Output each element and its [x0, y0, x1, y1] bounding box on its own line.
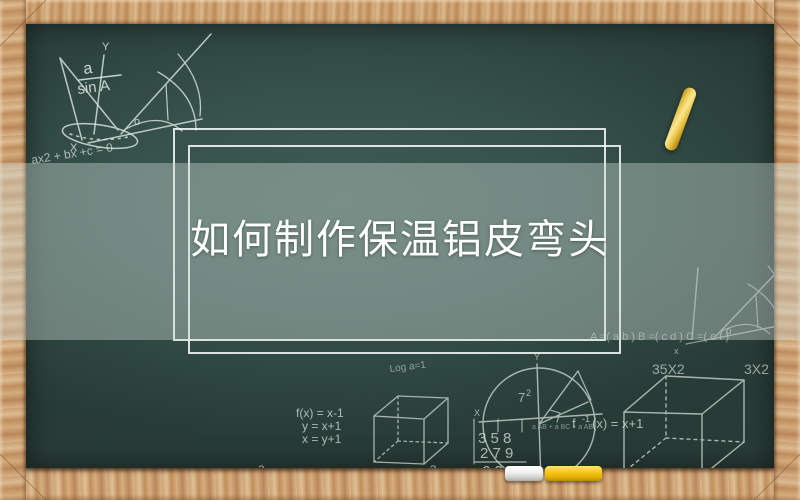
long-division: 3 5 8 2 7 9 6 3 7: [474, 419, 526, 468]
angle-construction-left: [88, 34, 211, 143]
cube-drawing-right: [624, 376, 744, 468]
inverse-superscript: -1: [582, 414, 590, 424]
gold-chalk-icon: [663, 86, 698, 152]
function-fx: f(x) = x-1: [296, 406, 344, 420]
svg-text:2 7 9: 2 7 9: [480, 445, 513, 462]
seven-exponent: 2: [526, 388, 531, 398]
function-y: y = x+1: [302, 419, 342, 433]
quadratic-equation: ax2 + bx +c = 0: [30, 140, 114, 167]
a-sin-a-2-numerator: a: [430, 461, 437, 468]
axis-label-x-bottom: X: [474, 408, 480, 418]
log-expression: Log a=1: [389, 360, 427, 375]
svg-text:3 5 8: 3 5 8: [478, 430, 511, 447]
cone-fraction-numerator: a: [82, 60, 93, 78]
inverse-function-rest: (x) = x+1: [592, 416, 643, 431]
alog-bc: a log (bc): [445, 466, 487, 468]
small-sum-equation: a AB + a BC + a AB: [532, 424, 593, 431]
inverse-function: f: [572, 416, 576, 431]
axis-label-y-topleft: Y: [102, 41, 110, 53]
axis-label-x-right: x: [674, 346, 679, 356]
a-sin-a-1-numerator: a: [258, 461, 265, 468]
chalkboard-banner: a sin A ax2 + bx +c = 0 Y X o: [0, 0, 800, 500]
cube-drawing-center: [374, 396, 448, 464]
angle-label-right: o: [726, 326, 732, 337]
angle-label-topleft: o: [134, 116, 140, 128]
frame-top-edge: [0, 0, 800, 24]
cone-fraction-denominator: sin A: [76, 77, 110, 98]
seven-squared: 7: [518, 390, 525, 405]
yellow-chalk-icon: [545, 466, 602, 481]
mult-35x2: 35X2: [652, 361, 685, 377]
cone-drawing: [60, 58, 139, 153]
page-title: 如何制作保温铝皮弯头: [0, 214, 800, 266]
white-chalk-icon: [505, 466, 543, 481]
function-x: x = y+1: [302, 432, 342, 446]
circle-angle-drawing: [479, 364, 602, 468]
axis-label-x-topleft: X: [70, 142, 78, 154]
mult-3x2: 3X2: [744, 361, 769, 377]
frame-bottom-ledge: [0, 468, 800, 500]
